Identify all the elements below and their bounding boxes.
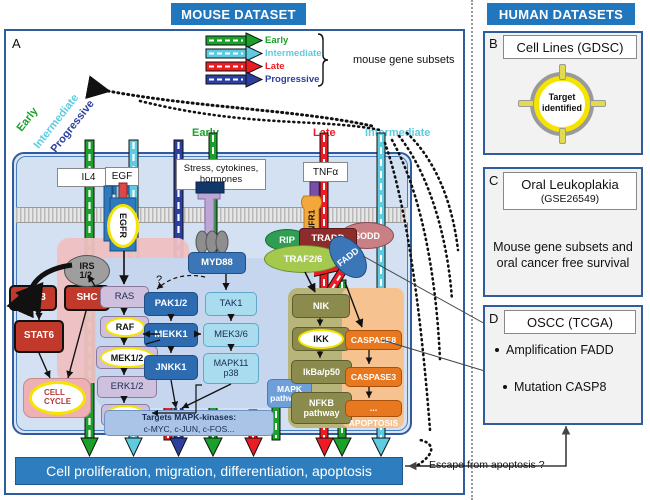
- panel-b-title: Cell Lines (GDSC): [503, 35, 637, 59]
- panel-c-title-line1: Oral Leukoplakia: [521, 177, 619, 193]
- figure-root: MOUSE DATASET HUMAN DATASETS A: [0, 0, 650, 500]
- panel-c-letter: C: [489, 173, 498, 188]
- panel-c-title-line2: (GSE26549): [541, 193, 599, 206]
- panel-d-bullet-2-label: Mutation CASP8: [514, 380, 606, 394]
- panel-d-bullet-2: Mutation CASP8: [503, 380, 643, 394]
- panel-d-bullet-1: Amplification FADD: [495, 343, 640, 357]
- panel-b-letter: B: [489, 36, 498, 51]
- target-icon-tick-right: [590, 100, 606, 107]
- panel-d-letter: D: [489, 311, 498, 326]
- panel-c-body: Mouse gene subsets and oral cancer free …: [489, 220, 637, 290]
- bullet-dot-icon: [495, 348, 499, 352]
- target-icon-tick-left: [518, 100, 534, 107]
- panel-c-title: Oral Leukoplakia (GSE26549): [503, 172, 637, 210]
- panel-d-bullet-1-label: Amplification FADD: [506, 343, 614, 357]
- bullet-dot-icon: [503, 385, 507, 389]
- target-icon-tick-bottom: [559, 128, 566, 144]
- target-identified-line1: Target: [534, 92, 590, 102]
- target-icon-tick-top: [559, 64, 566, 80]
- panel-d-title: OSCC (TCGA): [504, 310, 636, 334]
- target-identified-line2: identified: [534, 103, 590, 113]
